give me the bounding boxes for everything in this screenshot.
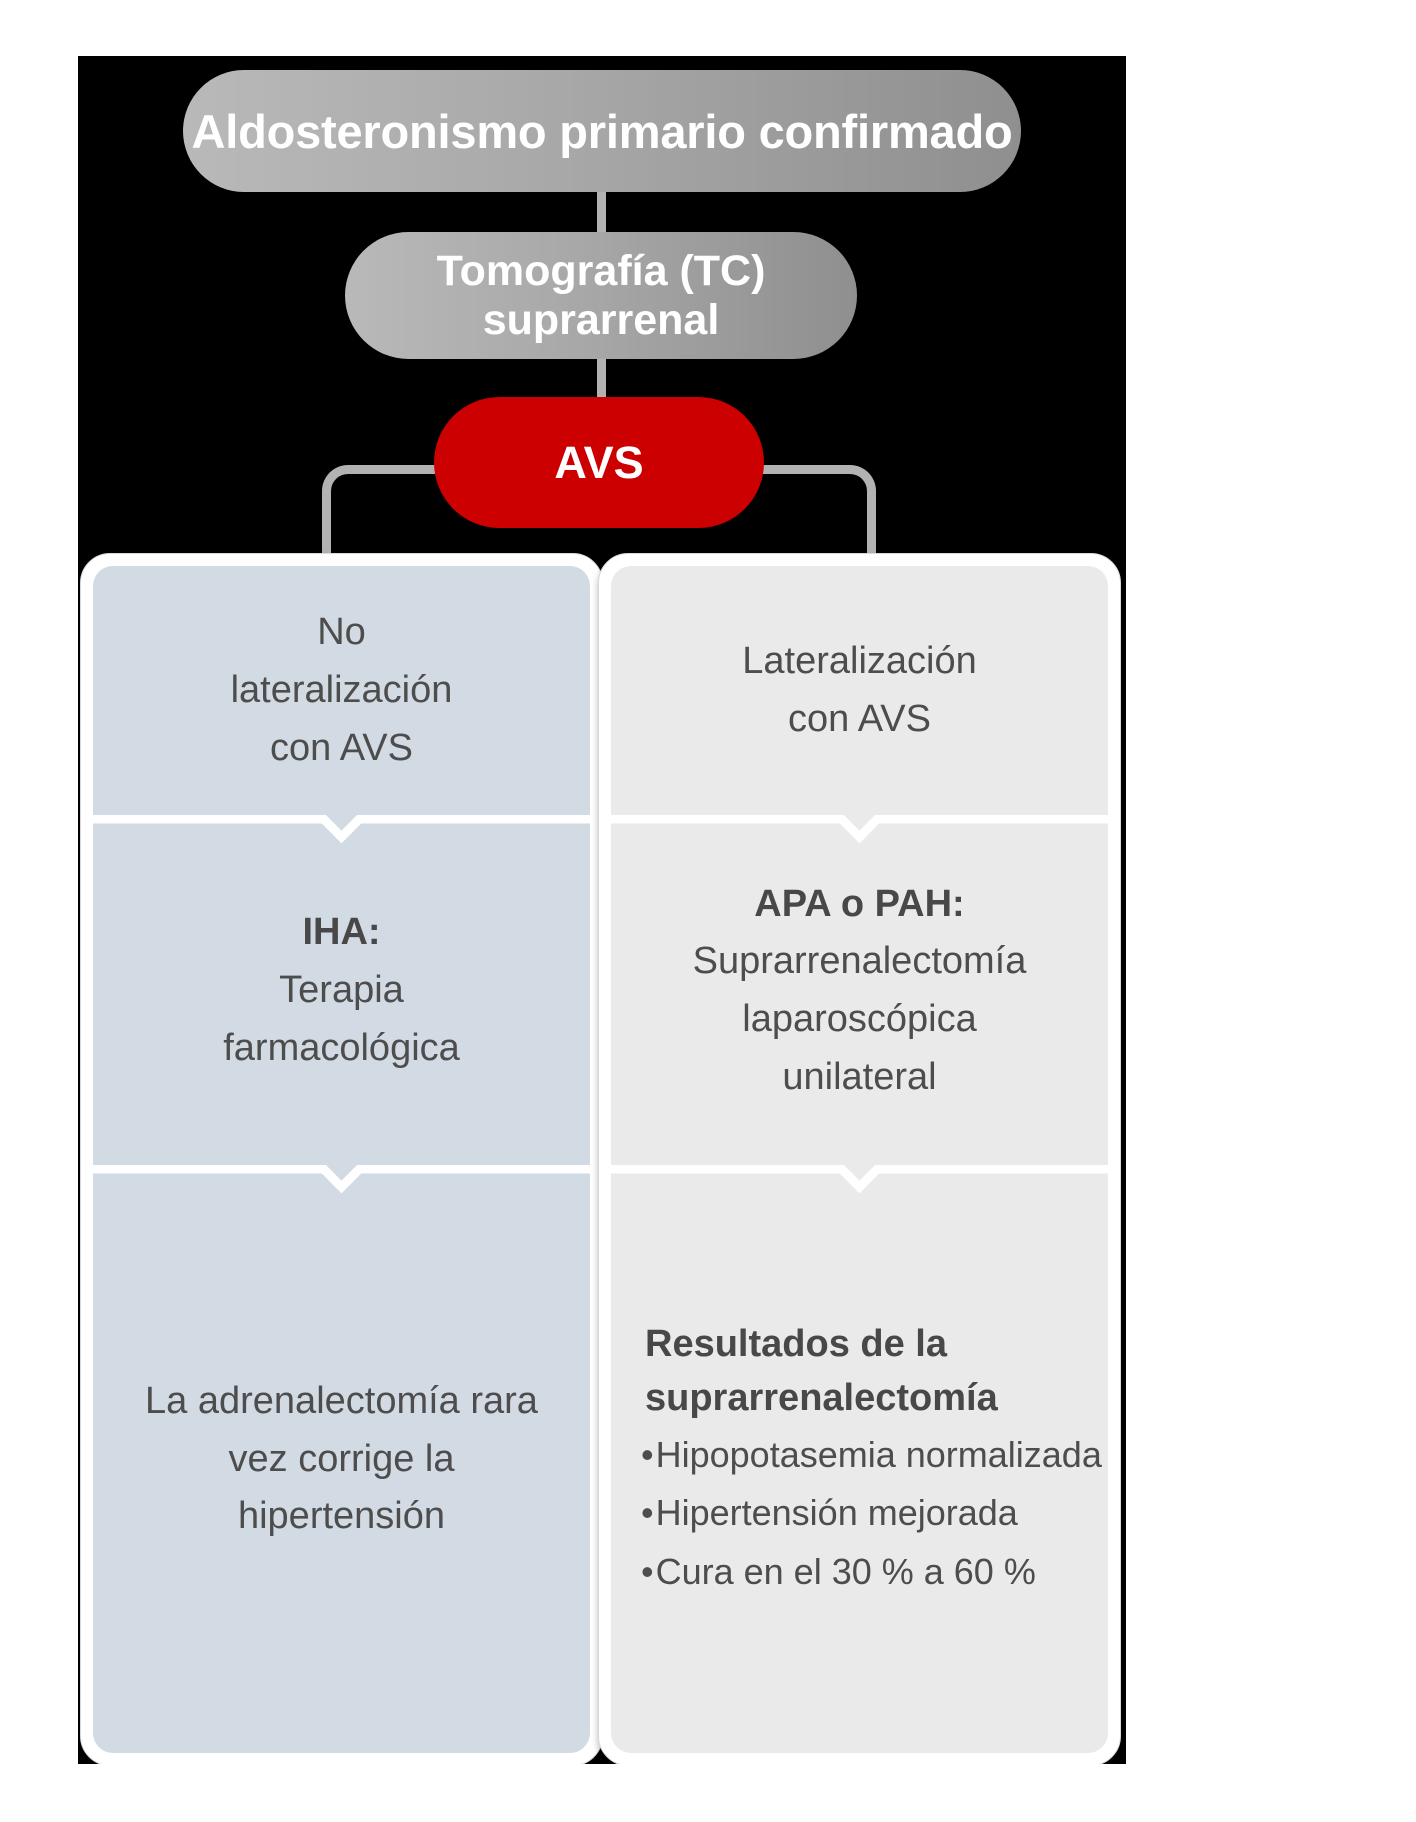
node-primary-aldosteronism-confirmed[interactable]: Aldosteronismo primario confirmado [183,70,1021,192]
list-item: Hipopotasemia normalizada [641,1426,1086,1484]
chevron-down-icon [611,815,1108,849]
list-item: Hipertensión mejorada [641,1484,1086,1542]
right-treatment-line3: unilateral [782,1049,936,1107]
left-treatment-line2: farmacológica [223,1020,460,1078]
chevron-down-icon [611,1165,1108,1199]
branch-column-no-lateralization[interactable]: No lateralización con AVS IHA: Terapia f… [80,553,603,1766]
left-outcome-line3: hipertensión [238,1488,445,1546]
left-outcome-line2: vez corrige la [229,1431,455,1489]
right-treatment-heading: APA o PAH: [754,876,964,934]
left-treatment-heading: IHA: [302,904,380,962]
left-branch-line3: con AVS [270,720,413,778]
node-adrenal-ct[interactable]: Tomografía (TC) suprarrenal [345,232,857,359]
node-avs[interactable]: AVS [434,397,764,528]
left-outcome: La adrenalectomía rara vez corrige la hi… [93,1166,590,1753]
left-branch-result: No lateralización con AVS [93,566,590,816]
node-adrenal-ct-label-line2: suprarrenal [483,296,720,344]
chevron-down-icon [93,1165,590,1199]
right-outcome-heading-line1: Resultados de la [633,1318,1086,1372]
right-branch-result: Lateralización con AVS [611,566,1108,816]
node-primary-aldosteronism-label: Aldosteronismo primario confirmado [191,104,1012,159]
branch-column-lateralization[interactable]: Lateralización con AVS APA o PAH: Suprar… [598,553,1121,1766]
list-item: Cura en el 30 % a 60 % [641,1543,1086,1601]
page-margin-right [1126,0,1416,1822]
flowchart-canvas: Aldosteronismo primario confirmado Tomog… [0,0,1416,1822]
right-treatment: APA o PAH: Suprarrenalectomía laparoscóp… [611,816,1108,1166]
right-outcome: Resultados de la suprarrenalectomía Hipo… [611,1166,1108,1753]
connector-root-to-imaging [597,190,606,236]
node-avs-label: AVS [554,437,643,489]
left-branch-line2: lateralización [231,662,453,720]
left-treatment: IHA: Terapia farmacológica [93,816,590,1166]
right-outcome-bullet-list: Hipopotasemia normalizada Hipertensión m… [633,1426,1086,1601]
node-adrenal-ct-label-line1: Tomografía (TC) [437,247,766,295]
right-outcome-heading-line2: suprarrenalectomía [633,1372,1086,1426]
right-branch-line2: con AVS [788,691,931,749]
chevron-down-icon [93,815,590,849]
right-branch-line1: Lateralización [742,633,976,691]
right-treatment-line1: Suprarrenalectomía [693,933,1027,991]
left-treatment-line1: Terapia [279,962,404,1020]
right-treatment-line2: laparoscópica [742,991,976,1049]
left-outcome-line1: La adrenalectomía rara [145,1373,538,1431]
page-margin-left [0,0,78,1822]
left-branch-line1: No [317,604,366,662]
